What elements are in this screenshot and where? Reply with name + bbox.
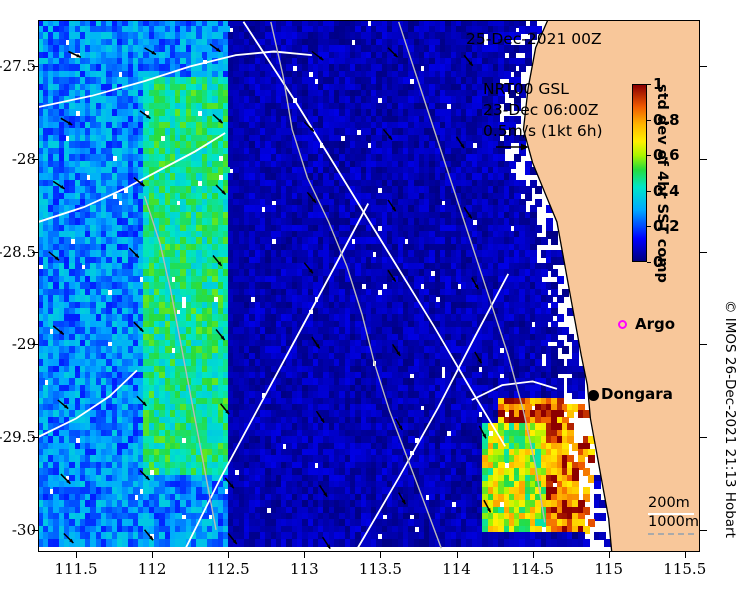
y-axis-tick-right [700,530,707,531]
x-axis-tick [609,552,610,558]
depth-legend-solid-line [648,513,694,515]
dongara-marker-icon [588,390,599,401]
x-axis-label: 112.5 [207,560,250,578]
x-axis-tick [304,552,305,558]
depth-legend-200m: 200m [648,495,690,511]
y-axis-label: -28 [12,150,36,168]
source-annotation: NRT00 GSL 23-Dec 06:00Z 0.5m/s (1kt 6h) [483,79,603,142]
y-axis-label: -29.5 [0,428,36,446]
colorbar-title: std dev of 4hr SST comp [652,84,672,262]
x-axis-label: 111.5 [55,560,98,578]
colorbar-tick [647,191,651,192]
y-axis [0,0,36,592]
source-line-1: NRT00 GSL [483,80,569,98]
x-axis-label: 114.5 [511,560,554,578]
depth-legend-1000m: 1000m [648,514,699,530]
velocity-scale-arrow-icon [495,141,529,153]
source-line-3: 0.5m/s (1kt 6h) [483,122,603,140]
colorbar [632,84,647,262]
argo-marker-icon [618,320,627,329]
colorbar-tick [647,120,651,121]
y-axis-label: -29 [12,335,36,353]
x-axis-label: 113 [290,560,319,578]
y-axis-tick-right [700,252,707,253]
colorbar-tick [647,226,651,227]
x-axis-label: 114 [442,560,471,578]
y-axis-label: -30 [12,521,36,539]
x-axis-label: 113.5 [359,560,402,578]
x-axis-tick [380,552,381,558]
figure-canvas: 25-Dec-2021 00Z NRT00 GSL 23-Dec 06:00Z … [0,0,740,592]
x-axis-label: 115 [594,560,623,578]
y-axis-label: -28.5 [0,243,36,261]
y-axis-tick-right [700,344,707,345]
x-axis-label: 112 [138,560,167,578]
source-line-2: 23-Dec 06:00Z [483,101,599,119]
x-axis-tick [457,552,458,558]
colorbar-tick [647,155,651,156]
x-axis-tick [76,552,77,558]
x-axis-tick [533,552,534,558]
x-axis-tick [685,552,686,558]
colorbar-tick [647,262,651,263]
argo-label: Argo [635,315,675,333]
dongara-label: Dongara [601,385,673,403]
y-axis-tick-right [700,159,707,160]
credit-text: © IMOS 26-Dec-2021 21:13 Hobart [722,300,738,560]
y-axis-label: -27.5 [0,57,36,75]
y-axis-tick-right [700,437,707,438]
y-axis-tick-right [700,66,707,67]
colorbar-tick [647,84,651,85]
x-axis-tick [228,552,229,558]
date-stamp: 25-Dec-2021 00Z [466,30,602,48]
x-axis-tick [152,552,153,558]
depth-legend-dashed-line [648,533,694,535]
x-axis-label: 115.5 [663,560,706,578]
